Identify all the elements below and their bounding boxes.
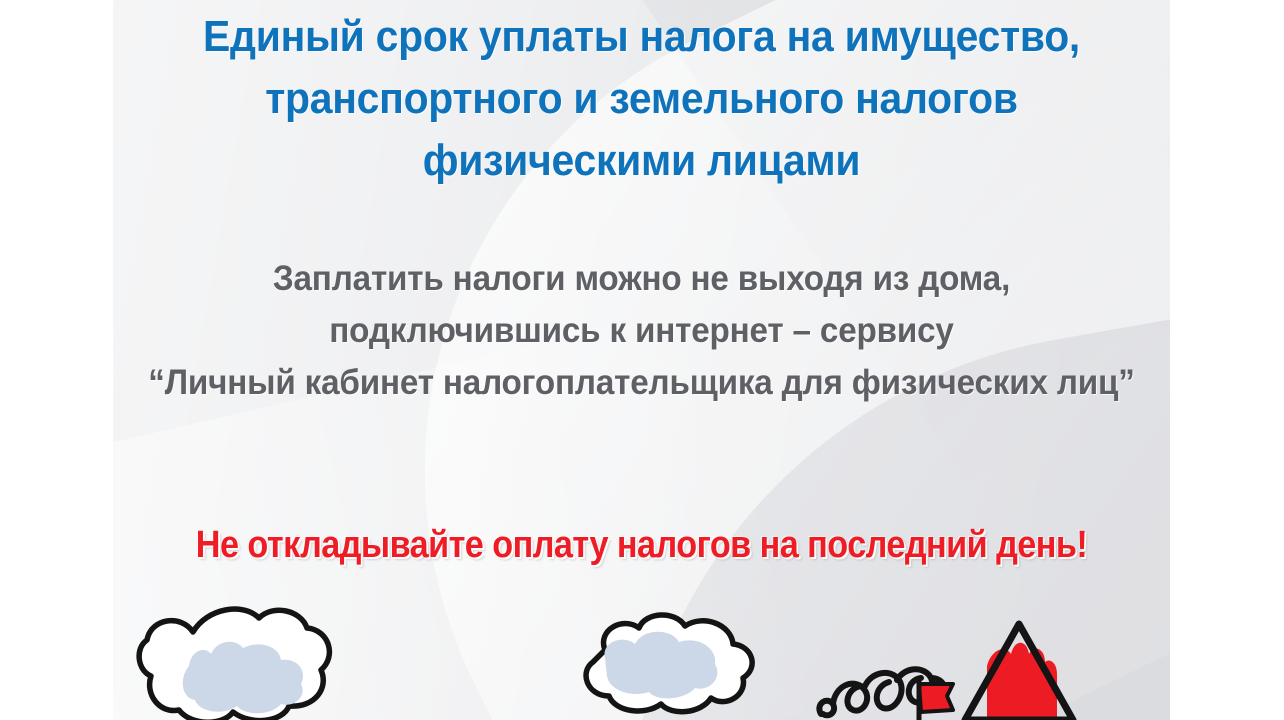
cloud-icon [553, 604, 773, 720]
warning-text: Не откладывайте оплату налогов на послед… [166, 522, 1117, 568]
slide-canvas: Единый срок уплаты налога на имущество, … [113, 0, 1170, 720]
page-title: Единый срок уплаты налога на имущество, … [150, 6, 1133, 192]
page-title-line-1: Единый срок уплаты налога на имущество, [150, 6, 1133, 68]
slide-stage: Единый срок уплаты налога на имущество, … [0, 0, 1284, 720]
page-title-line-2: транспортного и земельного налогов [150, 68, 1133, 130]
page-title-line-3: физическими лицами [150, 130, 1133, 192]
page-subtitle-line-1: Заплатить налоги можно не выходя из дома… [139, 253, 1143, 305]
warning-triangle-icon [953, 614, 1083, 720]
page-subtitle: Заплатить налоги можно не выходя из дома… [139, 253, 1143, 409]
cloud-icon [131, 596, 361, 720]
illustration-layer [113, 580, 1170, 720]
page-subtitle-line-3: “Личный кабинет налогоплательщика для фи… [139, 357, 1143, 409]
page-subtitle-line-2: подключившись к интернет – сервису [139, 305, 1143, 357]
